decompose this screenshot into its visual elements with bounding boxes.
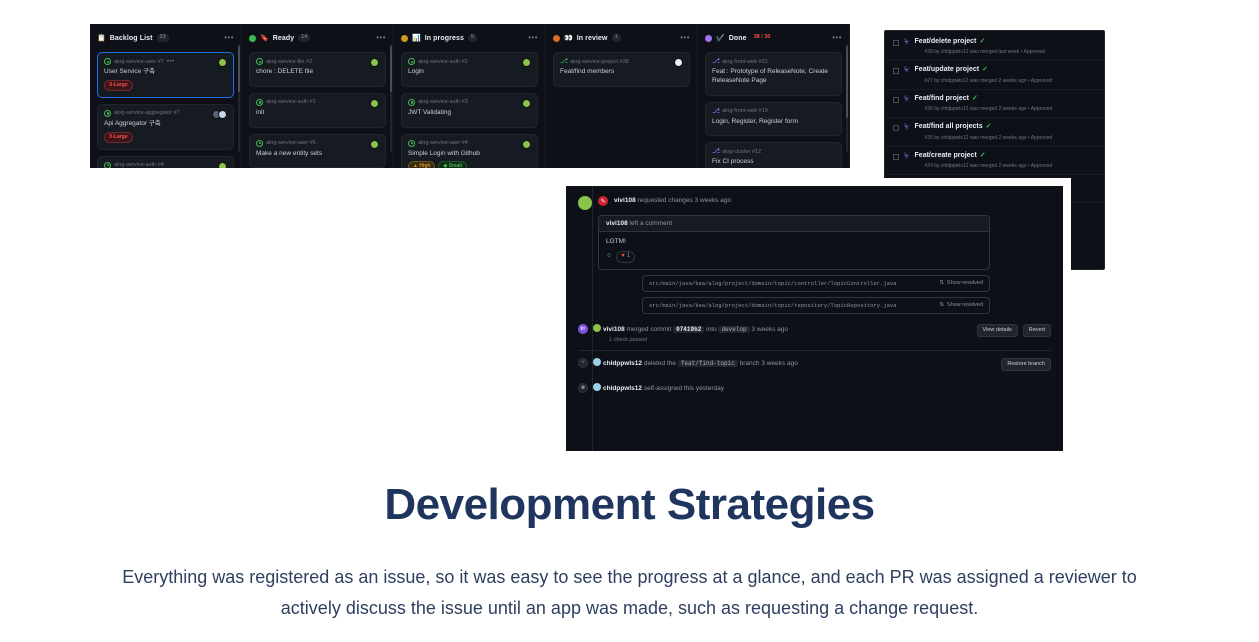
avatar[interactable] (370, 99, 379, 108)
avatar[interactable] (522, 99, 531, 108)
column-menu-icon[interactable]: ••• (528, 35, 538, 41)
comment-body: LGTM! ☺ ♥ 1 (599, 232, 989, 269)
avatar[interactable] (593, 324, 601, 332)
show-resolved-button[interactable]: ⇅Show resolved (939, 302, 983, 308)
unfold-icon: ⇅ (939, 280, 944, 286)
card-title: chore : DELETE file (256, 68, 379, 77)
avatar[interactable] (593, 383, 601, 391)
card-title: init (256, 109, 379, 118)
resolved-file-row: src/main/java/kea/alog/project/domain/to… (642, 275, 990, 292)
revert-button[interactable]: Revert (1023, 324, 1051, 338)
kanban-card[interactable]: alog-service-auth #1init (249, 93, 386, 128)
pr-title-line: Feat/find project✓ (915, 95, 1096, 103)
pr-meta: #24 by chldppwls12 was merged 2 weeks ag… (925, 163, 1096, 169)
heart-reaction-button[interactable]: ♥ 1 (616, 251, 635, 263)
column-title: Ready (273, 35, 295, 42)
issue-open-icon (256, 99, 263, 106)
delete-action-pre: deleted the (644, 360, 676, 367)
pr-merged-icon: ⏧ (904, 95, 910, 104)
card-reference: alog-service-user #6 (266, 140, 316, 146)
card-title: JWT Validating (408, 109, 531, 118)
card-reference: alog-cluster #12 (722, 149, 761, 155)
kanban-card[interactable]: alog-service-aggregator #7Api Aggregator… (97, 104, 234, 150)
row-checkbox[interactable] (893, 154, 899, 160)
merge-action-post: 3 weeks ago (751, 326, 788, 333)
page-title: Development Strategies (0, 480, 1259, 530)
row-checkbox[interactable] (893, 125, 899, 131)
pr-title-line: Feat/delete project✓ (915, 38, 1096, 46)
pr-merged-icon: ⏧ (904, 38, 910, 47)
pr-merged-icon: ⎇ (712, 58, 719, 65)
card-reference: alog-service-aggregator #7 (114, 110, 180, 116)
approved-check-icon: ✓ (982, 66, 988, 74)
heart-icon: ♥ (621, 253, 625, 261)
column-card-list: alog-service-file #2chore : DELETE filea… (249, 52, 386, 168)
kanban-column-backlog-list: 📋Backlog List33•••alog-service-user #7••… (90, 24, 242, 168)
status-dot-icon (553, 35, 560, 42)
card-reference: alog-service-auth #3 (418, 99, 468, 105)
issue-open-icon (408, 140, 415, 147)
card-meta: ⎇alog-service-project #38 (560, 58, 683, 65)
kanban-card[interactable]: alog-service-auth #2Login (401, 52, 538, 87)
avatar[interactable] (370, 58, 379, 67)
approved-check-icon: ✓ (986, 123, 992, 131)
column-count: 33 (157, 34, 169, 42)
pr-title[interactable]: Feat/update project (915, 66, 980, 74)
kanban-card[interactable]: alog-service-auth #3JWT Validating (401, 93, 538, 128)
avatar[interactable] (593, 358, 601, 366)
column-emoji-icon: 📋 (97, 35, 106, 42)
page-description: Everything was registered as an issue, s… (100, 562, 1160, 624)
merge-action-mid: into (706, 326, 716, 333)
card-meta: ⎇alog-cluster #12 (712, 148, 835, 155)
comment-text: LGTM! (606, 238, 982, 245)
kanban-card[interactable]: alog-service-user #7•••User Service 구축X-… (97, 52, 234, 98)
card-meta: alog-service-user #4 (408, 140, 531, 147)
card-title: Login, Register, Register form (712, 118, 835, 127)
kanban-column-done: ✔️Done38 / 30•••⎇alog-front-web #21Feat … (698, 24, 850, 168)
kanban-column-in-review: 👀In review1•••⎇alog-service-project #38F… (546, 24, 698, 168)
pr-title-line: Feat/create project✓ (915, 152, 1096, 160)
card-labels: X-Large (104, 80, 227, 91)
kanban-card[interactable]: ⎇alog-service-project #38Feat/find membe… (553, 52, 690, 87)
comment-header: vivi108 left a comment (599, 216, 989, 232)
conversation-timeline: ✎ vivi108 requested changes 3 weeks ago … (566, 186, 1063, 451)
avatar[interactable] (522, 140, 531, 149)
pr-row-body: Feat/delete project✓#28 by chldppwls12 w… (915, 38, 1096, 55)
restore-branch-button[interactable]: Restore branch (1001, 358, 1051, 372)
column-title: Done (729, 35, 747, 42)
pr-merged-icon: ⎇ (712, 108, 719, 115)
card-reference: alog-service-project #38 (570, 59, 629, 65)
card-reference: alog-service-auth #4 (114, 162, 164, 168)
comment-author[interactable]: vivi108 (606, 220, 628, 227)
card-meta: alog-service-auth #1 (256, 99, 379, 106)
approved-check-icon: ✓ (980, 152, 986, 160)
card-reference: alog-service-auth #2 (418, 59, 468, 65)
self-assign-event: ☻ chldppwls12 self-assigned this yesterd… (578, 383, 1051, 394)
pr-row-body: Feat/find project✓#26 by chldppwls12 was… (915, 95, 1096, 112)
check-status-note: 1 check passed (609, 337, 788, 343)
column-card-list: alog-service-auth #2Loginalog-service-au… (401, 52, 538, 168)
card-reference: alog-front-web #21 (722, 59, 768, 65)
issue-open-icon (408, 58, 415, 65)
card-meta: alog-service-user #6 (256, 140, 379, 147)
kanban-card[interactable]: alog-service-user #6Make a new entity se… (249, 134, 386, 168)
show-resolved-button[interactable]: ⇅Show resolved (939, 280, 983, 286)
resolved-file-row: src/main/java/kea/alog/project/domain/to… (642, 297, 990, 314)
column-scrollbar[interactable] (390, 44, 392, 152)
pr-merged-icon: ⏧ (904, 152, 910, 161)
card-labels: X-Large (104, 132, 227, 143)
pr-meta: #27 by chldppwls12 was merged 2 weeks ag… (925, 78, 1096, 84)
kanban-card[interactable]: ⎇alog-front-web #19Login, Register, Regi… (705, 102, 842, 137)
avatar[interactable] (578, 196, 592, 210)
issue-open-icon (104, 110, 111, 117)
add-reaction-icon[interactable]: ☺ (606, 252, 612, 262)
show-resolved-label: Show resolved (947, 280, 983, 286)
card-meta: alog-service-aggregator #7 (104, 110, 227, 117)
avatar[interactable] (370, 140, 379, 149)
divider (578, 350, 1051, 351)
column-emoji-icon: 📊 (412, 35, 421, 42)
issue-open-icon (256, 140, 263, 147)
branch-icon: ⑂ (578, 358, 588, 368)
card-label: ▲ High (408, 161, 435, 168)
pull-request-row[interactable]: ⏧Feat/create project✓#24 by chldppwls12 … (885, 147, 1104, 175)
kanban-card[interactable]: alog-service-auth #4Auth Service 구축X-Lar… (97, 156, 234, 168)
self-assign-text: chldppwls12 self-assigned this yesterday (593, 383, 724, 394)
card-reference: alog-service-file #2 (266, 59, 312, 65)
comment-subtitle: left a comment (630, 220, 673, 227)
assign-author[interactable]: chldppwls12 (603, 385, 642, 392)
card-meta: alog-service-user #7••• (104, 58, 227, 65)
view-details-button[interactable]: View details (977, 324, 1018, 338)
approved-check-icon: ✓ (972, 95, 978, 103)
column-count: 38 / 30 (751, 34, 774, 42)
merge-event-text: vivi108 merged commit 07419b2 into devel… (593, 324, 788, 335)
pr-open-icon: ⎇ (560, 58, 567, 65)
column-emoji-icon: ✔️ (716, 35, 725, 42)
file-path[interactable]: src/main/java/kea/alog/project/domain/to… (649, 302, 897, 309)
kanban-card[interactable]: ⎇alog-cluster #12Fix CI process (705, 142, 842, 168)
card-label: X-Large (104, 80, 133, 91)
column-emoji-icon: 🔖 (260, 35, 269, 42)
kanban-card[interactable]: ⎇alog-front-web #21Feat : Prototype of R… (705, 52, 842, 96)
card-label: X-Large (104, 132, 133, 143)
reactions: ☺ ♥ 1 (606, 251, 982, 263)
column-header: 📊In progress5••• (401, 31, 538, 45)
issue-open-icon (408, 99, 415, 106)
card-title: Simple Login with Github (408, 150, 531, 159)
timeline-line (592, 186, 593, 451)
column-count: 5 (468, 34, 477, 42)
column-card-list: alog-service-user #7•••User Service 구축X-… (97, 52, 234, 168)
show-resolved-label: Show resolved (947, 302, 983, 308)
pr-merged-icon: ⏧ (904, 66, 910, 75)
delete-branch-event: ⑂ chldppwls12 deleted the feat/find-topi… (578, 358, 1051, 372)
issue-open-icon (104, 58, 111, 65)
card-meta: alog-service-auth #4 (104, 162, 227, 168)
avatar[interactable] (522, 58, 531, 67)
card-title: Make a new entity sets (256, 150, 379, 159)
delete-action-post: branch 3 weeks ago (740, 360, 798, 367)
kanban-card[interactable]: alog-service-user #4Simple Login with Gi… (401, 134, 538, 168)
merge-action-pre: merged commit (627, 326, 672, 333)
row-checkbox[interactable] (893, 97, 899, 103)
delete-branch-text: chldppwls12 deleted the feat/find-topic … (593, 358, 798, 369)
review-event: ✎ vivi108 requested changes 3 weeks ago (578, 196, 1051, 210)
card-meta: alog-service-auth #2 (408, 58, 531, 65)
column-title: In progress (425, 35, 464, 42)
heart-reaction-count: 1 (627, 253, 630, 261)
pr-title-line: Feat/find all projects✓ (915, 123, 1096, 131)
target-branch[interactable]: develop (718, 326, 749, 333)
card-menu-icon[interactable]: ••• (167, 60, 175, 64)
card-labels: ▲ High◆ Small (408, 161, 531, 168)
kanban-card[interactable]: alog-service-file #2chore : DELETE file (249, 52, 386, 87)
card-title: Fix CI process (712, 158, 835, 167)
pull-request-row[interactable]: ⏧Feat/delete project✓#28 by chldppwls12 … (885, 33, 1104, 61)
pull-request-conversation-panel: ✎ vivi108 requested changes 3 weeks ago … (558, 178, 1071, 459)
merge-event: ⇇ vivi108 merged commit 07419b2 into dev… (578, 324, 1051, 343)
pr-row-body: Feat/create project✓#24 by chldppwls12 w… (915, 152, 1096, 169)
card-meta: alog-service-auth #3 (408, 99, 531, 106)
commit-sha[interactable]: 07419b2 (673, 326, 704, 333)
issue-open-icon (256, 58, 263, 65)
column-card-list: ⎇alog-front-web #21Feat : Prototype of R… (705, 52, 842, 168)
unfold-icon: ⇅ (939, 302, 944, 308)
pr-meta: #25 by chldppwls12 was merged 2 weeks ag… (925, 135, 1096, 141)
column-header: 📋Backlog List33••• (97, 31, 234, 45)
card-title: Login (408, 68, 531, 77)
status-dot-icon (705, 35, 712, 42)
row-checkbox[interactable] (893, 40, 899, 46)
status-dot-icon (249, 35, 256, 42)
column-header: ✔️Done38 / 30••• (705, 31, 842, 45)
card-title: User Service 구축 (104, 68, 227, 77)
column-title: In review (577, 35, 608, 42)
pr-title[interactable]: Feat/create project (915, 152, 977, 160)
pr-row-body: Feat/find all projects✓#25 by chldppwls1… (915, 123, 1096, 140)
review-event-text: vivi108 requested changes 3 weeks ago (614, 196, 731, 210)
delete-author[interactable]: chldppwls12 (603, 360, 642, 367)
card-reference: alog-front-web #19 (722, 108, 768, 114)
kanban-column-in-progress: 📊In progress5•••alog-service-auth #2Logi… (394, 24, 546, 168)
card-title: Feat/find members (560, 68, 683, 77)
file-path[interactable]: src/main/java/kea/alog/project/domain/to… (649, 280, 897, 287)
pull-request-row[interactable]: ⏧Feat/find project✓#26 by chldppwls12 wa… (885, 90, 1104, 118)
merge-author[interactable]: vivi108 (603, 326, 625, 333)
kanban-board: 📋Backlog List33•••alog-service-user #7••… (90, 24, 850, 168)
column-card-list: ⎇alog-service-project #38Feat/find membe… (553, 52, 690, 87)
issue-open-icon (104, 162, 111, 168)
column-count: 14 (298, 34, 310, 42)
card-label: ◆ Small (438, 161, 467, 168)
review-icon: ✎ (598, 196, 608, 206)
pr-title-line: Feat/update project✓ (915, 66, 1096, 74)
column-emoji-icon: 👀 (564, 35, 573, 42)
kanban-column-ready: 🔖Ready14•••alog-service-file #2chore : D… (242, 24, 394, 168)
pr-title[interactable]: Feat/delete project (915, 38, 977, 46)
avatar[interactable] (218, 110, 227, 119)
person-icon: ☻ (578, 383, 588, 393)
pull-request-row[interactable]: ⏧Feat/find all projects✓#25 by chldppwls… (885, 118, 1104, 146)
card-reference: alog-service-auth #1 (266, 99, 316, 105)
approved-check-icon: ✓ (979, 38, 985, 46)
column-header: 🔖Ready14••• (249, 31, 386, 45)
pr-merged-icon: ⏧ (904, 123, 910, 132)
avatar[interactable] (218, 162, 227, 168)
card-reference: alog-service-user #4 (418, 140, 468, 146)
assign-action: self-assigned this yesterday (644, 385, 724, 392)
avatar[interactable] (218, 58, 227, 67)
card-reference: alog-service-user #7 (114, 59, 164, 65)
pr-meta: #28 by chldppwls12 was merged last week … (925, 49, 1096, 55)
column-menu-icon[interactable]: ••• (832, 35, 842, 41)
column-scrollbar[interactable] (238, 44, 240, 152)
deleted-branch-name: feat/find-topic (678, 360, 738, 367)
card-meta: ⎇alog-front-web #19 (712, 108, 835, 115)
pull-request-row[interactable]: ⏧Feat/update project✓#27 by chldppwls12 … (885, 61, 1104, 89)
card-meta: ⎇alog-front-web #21 (712, 58, 835, 65)
pr-row-body: Feat/update project✓#27 by chldppwls12 w… (915, 66, 1096, 83)
pr-meta: #26 by chldppwls12 was merged 2 weeks ag… (925, 106, 1096, 112)
avatar[interactable] (674, 58, 683, 67)
column-menu-icon[interactable]: ••• (224, 35, 234, 41)
column-menu-icon[interactable]: ••• (680, 35, 690, 41)
card-title: Api Aggregator 구축 (104, 120, 227, 129)
status-dot-icon (401, 35, 408, 42)
review-author[interactable]: vivi108 (614, 197, 636, 204)
card-title: Feat : Prototype of ReleaseNote, Create … (712, 68, 835, 86)
card-meta: alog-service-file #2 (256, 58, 379, 65)
column-scrollbar[interactable] (846, 44, 848, 152)
merge-icon: ⇇ (578, 324, 588, 334)
pr-merged-icon: ⎇ (712, 148, 719, 155)
pr-title[interactable]: Feat/find project (915, 95, 969, 103)
row-checkbox[interactable] (893, 68, 899, 74)
pr-title[interactable]: Feat/find all projects (915, 123, 983, 131)
comment-box: vivi108 left a comment LGTM! ☺ ♥ 1 (598, 215, 990, 270)
column-title: Backlog List (110, 35, 153, 42)
review-action: requested changes 3 weeks ago (638, 197, 732, 204)
column-header: 👀In review1••• (553, 31, 690, 45)
column-count: 1 (612, 34, 621, 42)
column-menu-icon[interactable]: ••• (376, 35, 386, 41)
